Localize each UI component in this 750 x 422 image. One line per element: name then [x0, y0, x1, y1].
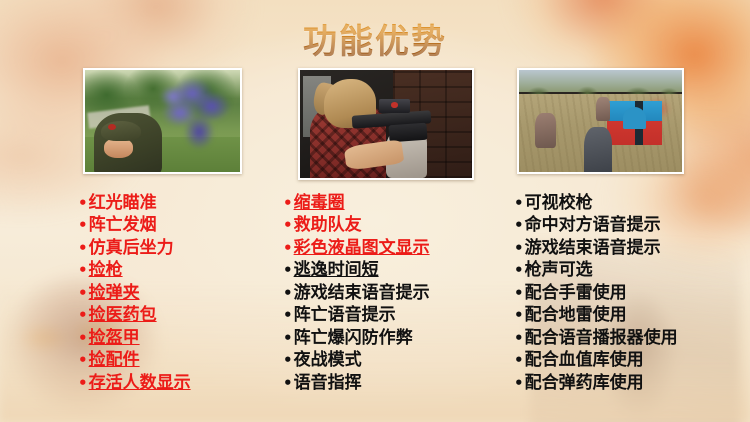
- list-item: •配合地雷使用: [514, 304, 744, 326]
- bullet-dot-icon: •: [514, 284, 524, 304]
- photo1-player-face: [104, 138, 133, 157]
- bullet-dot-icon: •: [78, 284, 88, 304]
- list-item-label: 夜战模式: [294, 349, 362, 371]
- list-item: •阵亡发烟: [78, 214, 278, 236]
- list-item: •捡弹夹: [78, 282, 278, 304]
- list-item: •命中对方语音提示: [514, 214, 744, 236]
- list-item-label: 红光瞄准: [89, 192, 157, 214]
- list-item-label: 捡弹夹: [89, 282, 140, 304]
- rifle-aiming-photo: [298, 68, 474, 180]
- feature-column-3: •可视校枪 •命中对方语音提示 •游戏结束语音提示 •枪声可选 •配合手雷使用 …: [514, 192, 744, 394]
- list-item: •游戏结束语音提示: [514, 237, 744, 259]
- list-item-label: 语音指挥: [294, 372, 362, 394]
- list-item-label: 捡枪: [89, 259, 123, 281]
- bullet-dot-icon: •: [78, 329, 88, 349]
- list-item: •红光瞄准: [78, 192, 278, 214]
- list-item: •救助队友: [283, 214, 498, 236]
- list-item-label: 配合语音播报器使用: [525, 327, 678, 349]
- list-item-label: 捡盔甲: [89, 327, 140, 349]
- bullet-dot-icon: •: [514, 216, 524, 236]
- photo2-scope-red-dot: [391, 102, 398, 107]
- list-item-label: 阵亡爆闪防作弊: [294, 327, 413, 349]
- bullet-dot-icon: •: [283, 351, 293, 371]
- bullet-dot-icon: •: [78, 194, 88, 214]
- feature-column-1: •红光瞄准 •阵亡发烟 •仿真后坐力 •捡枪 •捡弹夹 •捡医药包 •捡盔甲 •…: [78, 192, 278, 394]
- list-item-label: 仿真后坐力: [89, 237, 174, 259]
- bullet-dot-icon: •: [283, 284, 293, 304]
- list-item-label: 配合手雷使用: [525, 282, 627, 304]
- list-item-label: 游戏结束语音提示: [525, 237, 661, 259]
- list-item: •枪声可选: [514, 259, 744, 281]
- bullet-dot-icon: •: [283, 306, 293, 326]
- list-item: •语音指挥: [283, 372, 498, 394]
- presentation-slide: 功能优势: [0, 0, 750, 422]
- list-item-label: 救助队友: [294, 214, 362, 236]
- bullet-dot-icon: •: [514, 194, 524, 214]
- bullet-dot-icon: •: [514, 351, 524, 371]
- photo3-player-front: [584, 127, 612, 174]
- bullet-dot-icon: •: [283, 239, 293, 259]
- photo3-player-far: [596, 97, 611, 121]
- list-item-label: 游戏结束语音提示: [294, 282, 430, 304]
- photo1-helmet: [101, 121, 141, 141]
- bullet-dot-icon: •: [283, 216, 293, 236]
- bullet-dot-icon: •: [283, 194, 293, 214]
- list-item-label: 捡医药包: [89, 304, 157, 326]
- list-item-label: 配合地雷使用: [525, 304, 627, 326]
- list-item: •夜战模式: [283, 349, 498, 371]
- bullet-dot-icon: •: [514, 261, 524, 281]
- list-item: •逃逸时间短: [283, 259, 498, 281]
- bullet-dot-icon: •: [514, 239, 524, 259]
- list-item-label: 枪声可选: [525, 259, 593, 281]
- list-item-label: 缩毒圈: [294, 192, 345, 214]
- feature-column-2: •缩毒圈 •救助队友 •彩色液晶图文显示 •逃逸时间短 •游戏结束语音提示 •阵…: [283, 192, 498, 394]
- photo3-crate-bow: [623, 107, 646, 129]
- list-item-label: 阵亡发烟: [89, 214, 157, 236]
- list-item: •阵亡语音提示: [283, 304, 498, 326]
- list-item: •捡枪: [78, 259, 278, 281]
- list-item-label: 可视校枪: [525, 192, 593, 214]
- bullet-dot-icon: •: [514, 306, 524, 326]
- photo-row: [0, 0, 750, 190]
- photo3-player-left: [535, 113, 556, 148]
- list-item: •彩色液晶图文显示: [283, 237, 498, 259]
- list-item: •配合语音播报器使用: [514, 327, 744, 349]
- bullet-dot-icon: •: [514, 374, 524, 394]
- list-item-label: 配合弹药库使用: [525, 372, 644, 394]
- bullet-dot-icon: •: [78, 374, 88, 394]
- list-item: •游戏结束语音提示: [283, 282, 498, 304]
- bullet-dot-icon: •: [283, 329, 293, 349]
- bullet-dot-icon: •: [283, 261, 293, 281]
- list-item-label: 配合血值库使用: [525, 349, 644, 371]
- list-item-label: 存活人数显示: [89, 372, 191, 394]
- airdrop-crate-photo: [517, 68, 684, 174]
- list-item: •阵亡爆闪防作弊: [283, 327, 498, 349]
- list-item: •配合弹药库使用: [514, 372, 744, 394]
- bullet-dot-icon: •: [283, 374, 293, 394]
- list-item: •配合手雷使用: [514, 282, 744, 304]
- smoke-grenade-photo: [83, 68, 242, 174]
- list-item-label: 彩色液晶图文显示: [294, 237, 430, 259]
- bullet-dot-icon: •: [78, 239, 88, 259]
- bullet-dot-icon: •: [514, 329, 524, 349]
- list-item-label: 逃逸时间短: [294, 259, 379, 281]
- bullet-dot-icon: •: [78, 261, 88, 281]
- list-item: •配合血值库使用: [514, 349, 744, 371]
- list-item-label: 捡配件: [89, 349, 140, 371]
- list-item-label: 命中对方语音提示: [525, 214, 661, 236]
- list-item-label: 阵亡语音提示: [294, 304, 396, 326]
- list-item: •捡盔甲: [78, 327, 278, 349]
- list-item: •捡医药包: [78, 304, 278, 326]
- bullet-dot-icon: •: [78, 306, 88, 326]
- bullet-dot-icon: •: [78, 216, 88, 236]
- bullet-dot-icon: •: [78, 351, 88, 371]
- list-item: •仿真后坐力: [78, 237, 278, 259]
- list-item: •存活人数显示: [78, 372, 278, 394]
- list-item: •缩毒圈: [283, 192, 498, 214]
- list-item: •可视校枪: [514, 192, 744, 214]
- list-item: •捡配件: [78, 349, 278, 371]
